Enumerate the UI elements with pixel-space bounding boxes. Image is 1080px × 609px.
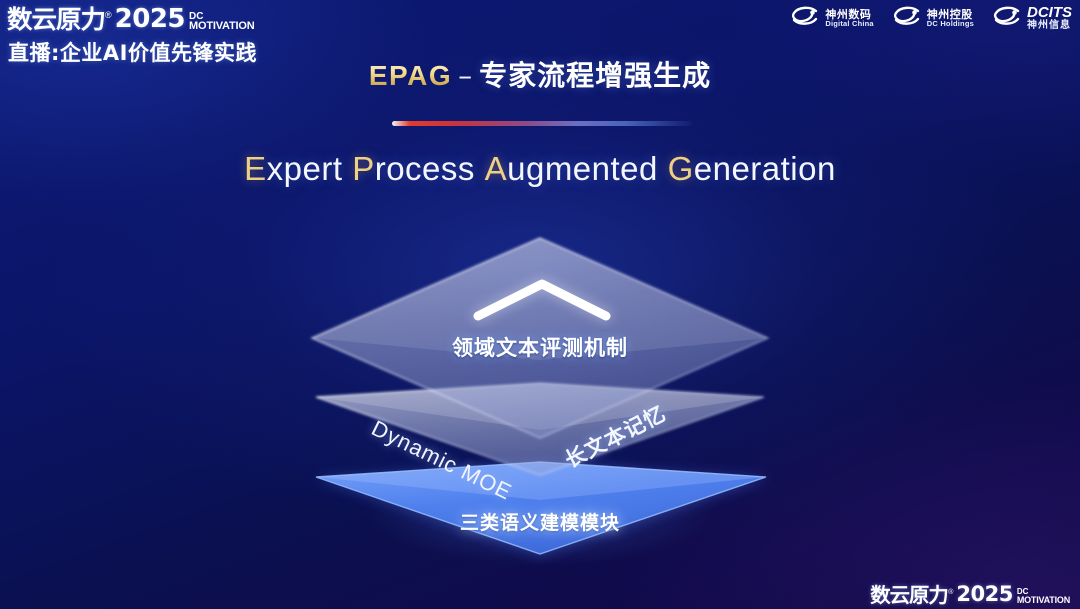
word-process-rest: rocess (375, 150, 475, 187)
initial-e: E (244, 150, 267, 187)
slide-root: 数云原力 ® 2025 DC MOTIVATION 直播:企业AI价值先锋实践 (0, 0, 1080, 609)
watermark-motivation: MOTIVATION (1017, 596, 1070, 604)
partner-logo-digital-china: 神州数码 Digital China (790, 5, 873, 32)
partner-label: 神州数码 Digital China (825, 9, 873, 28)
word-augmented-rest: ugmented (507, 150, 658, 187)
partner-name-en: Digital China (825, 20, 873, 28)
partner-name-en: DC Holdings (927, 20, 974, 28)
stack-label-top: 领域文本评测机制 (0, 332, 1080, 362)
event-logo: 数云原力 ® 2025 DC MOTIVATION (8, 2, 348, 32)
partner-logo-row: 神州数码 Digital China 神州控股 DC Holdings (790, 5, 1072, 32)
word-generation-rest: eneration (694, 150, 836, 187)
swirl-logo-icon (790, 5, 820, 32)
event-logo-brand: 数云原力 (7, 7, 105, 32)
partner-logo-dc-holdings: 神州控股 DC Holdings (892, 5, 974, 32)
swirl-logo-icon (992, 5, 1022, 32)
initial-a: A (485, 150, 508, 187)
partner-name-cn: DCITS (1027, 5, 1072, 21)
stack-label-bottom: 三类语义建模模块 (0, 508, 1080, 535)
partner-label: DCITS 神州信息 (1027, 5, 1072, 31)
chevron-up-icon (478, 284, 606, 316)
subtitle-english: Expert Process Augmented Generation (0, 150, 1080, 188)
page-title: EPAG–专家流程增强生成 (0, 54, 1080, 94)
initial-g: G (668, 150, 694, 187)
watermark-brand: 数云原力 (870, 585, 948, 605)
initial-p: P (352, 150, 375, 187)
title-dash: – (452, 59, 479, 92)
title-chinese: 专家流程增强生成 (479, 59, 711, 92)
swirl-logo-icon (892, 5, 922, 32)
partner-label: 神州控股 DC Holdings (927, 9, 974, 28)
title-acronym: EPAG (369, 60, 452, 91)
event-logo-dc-motivation: DC MOTIVATION (189, 12, 254, 31)
event-logo-year: 2025 (115, 6, 185, 32)
partner-logo-dcits: DCITS 神州信息 (992, 5, 1072, 32)
registered-mark-icon: ® (105, 10, 112, 20)
partner-name-en: 神州信息 (1027, 21, 1072, 32)
title-divider (392, 121, 692, 126)
event-logo-motivation: MOTIVATION (189, 21, 254, 31)
word-expert-rest: xpert (267, 150, 343, 187)
watermark-year: 2025 (956, 584, 1012, 605)
registered-mark-icon: ® (948, 589, 953, 596)
footer-watermark: 数云原力 ® 2025 DC MOTIVATION (871, 581, 1070, 605)
